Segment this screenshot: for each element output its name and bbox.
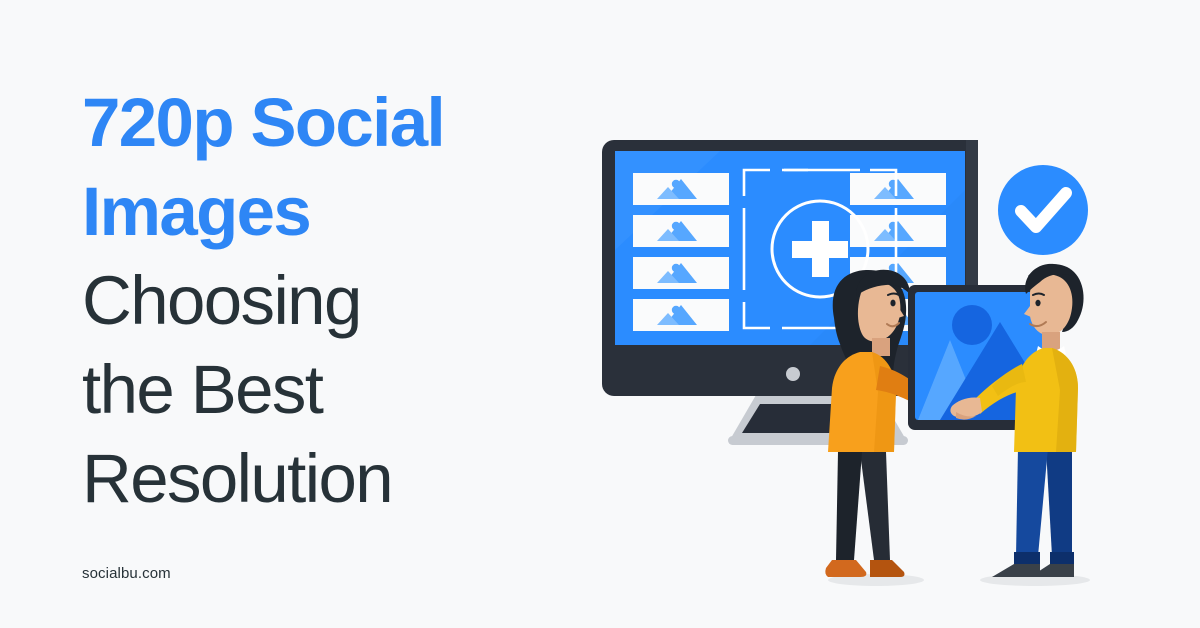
man-leg-back bbox=[1046, 448, 1072, 556]
held-frame-sun-icon bbox=[952, 305, 992, 345]
thumbnail-item[interactable] bbox=[633, 173, 729, 205]
woman-shoe-back bbox=[870, 560, 905, 577]
hero-illustration bbox=[560, 0, 1200, 628]
woman-leg-front bbox=[836, 452, 862, 560]
thumbnail-item[interactable] bbox=[633, 215, 729, 247]
headline-line-5: Resolution bbox=[82, 434, 552, 523]
woman-leg-back bbox=[860, 452, 890, 560]
social-share-card: 720p Social Images Choosing the Best Res… bbox=[0, 0, 1200, 628]
man-neck bbox=[1042, 332, 1060, 350]
headline-line-4: the Best bbox=[82, 345, 552, 434]
man-eye bbox=[1035, 300, 1040, 306]
thumbnail-item[interactable] bbox=[633, 257, 729, 289]
brand-url: socialbu.com bbox=[82, 565, 171, 582]
woman-eye bbox=[890, 300, 895, 307]
headline-line-2: Images bbox=[82, 167, 552, 256]
verified-check-badge bbox=[998, 165, 1088, 255]
thumbnail-item[interactable] bbox=[633, 299, 729, 331]
headline-block: 720p Social Images Choosing the Best Res… bbox=[82, 78, 552, 523]
headline-line-3: Choosing bbox=[82, 256, 552, 345]
woman-shoe-front bbox=[825, 560, 866, 577]
thumbnail-item[interactable] bbox=[850, 173, 946, 205]
man-shoe-front bbox=[992, 564, 1040, 577]
man-cuff-back bbox=[1050, 552, 1074, 564]
headline-line-1: 720p Social bbox=[82, 78, 552, 167]
man-cuff-front bbox=[1014, 552, 1040, 564]
power-led bbox=[786, 367, 800, 381]
plus-icon-horizontal bbox=[792, 241, 848, 258]
man-leg-front bbox=[1016, 448, 1048, 556]
